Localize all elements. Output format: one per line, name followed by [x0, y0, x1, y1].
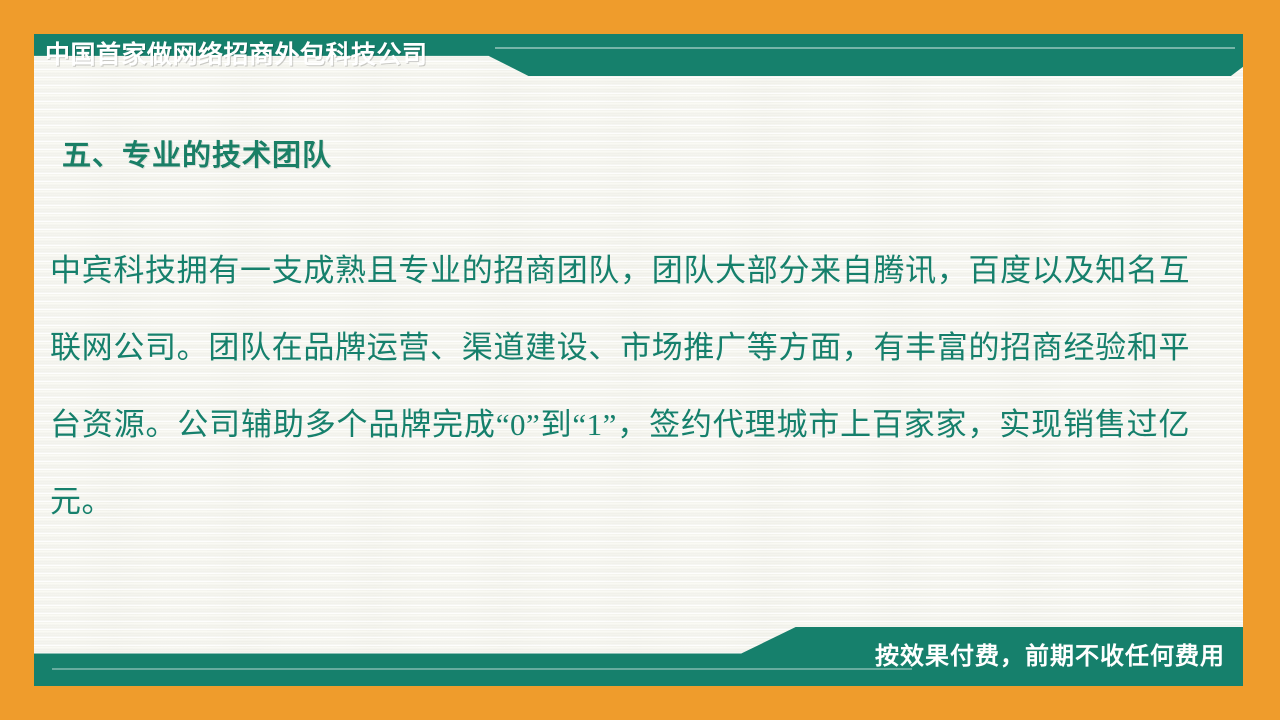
header-title: 中国首家做网络招商外包科技公司	[45, 36, 428, 74]
footer-tagline: 按效果付费，前期不收任何费用	[875, 640, 1225, 674]
header-accent-rule	[495, 47, 1235, 49]
footer-accent-rule	[52, 668, 912, 670]
slide-canvas: 中国首家做网络招商外包科技公司 五、专业的技术团队 中宾科技拥有一支成熟且专业的…	[0, 0, 1280, 720]
section-heading: 五、专业的技术团队	[62, 132, 332, 174]
section-paragraph: 中宾科技拥有一支成熟且专业的招商团队，团队大部分来自腾讯，百度以及知名互联网公司…	[50, 232, 1190, 540]
